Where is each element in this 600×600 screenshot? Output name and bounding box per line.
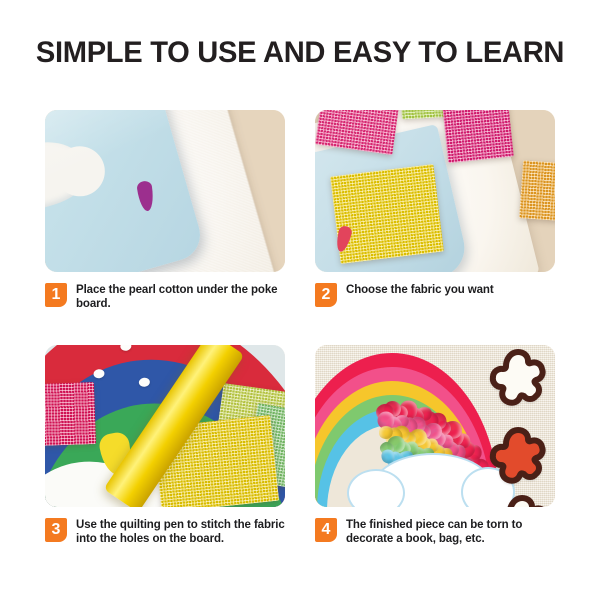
step-4-caption-text: The finished piece can be torn to decora… [346, 518, 555, 546]
magenta-fabric-square [45, 382, 96, 446]
step-1-caption-text: Place the pearl cotton under the poke bo… [76, 283, 285, 311]
page-title: SIMPLE TO USE AND EASY TO LEARN [9, 36, 591, 70]
yellow-fabric-square [330, 164, 444, 264]
flower-partial-icon [491, 495, 553, 507]
step-1-caption: 1 Place the pearl cotton under the poke … [45, 283, 285, 311]
step-3-caption: 3 Use the quilting pen to stitch the fab… [45, 518, 285, 546]
purple-raindrop [136, 180, 155, 212]
step-2-caption-text: Choose the fabric you want [346, 283, 494, 298]
step-number-badge-3: 3 [45, 518, 67, 542]
step-number-badge-1: 1 [45, 283, 67, 307]
step-1-photo [45, 110, 285, 272]
step-3-caption-text: Use the quilting pen to stitch the fabri… [76, 518, 285, 546]
steps-grid: 1 Place the pearl cotton under the poke … [45, 110, 555, 565]
step-card-3: 3 Use the quilting pen to stitch the fab… [45, 345, 285, 546]
step-number-badge-4: 4 [315, 518, 337, 542]
infographic-page: SIMPLE TO USE AND EASY TO LEARN 1 Place … [0, 0, 600, 600]
step-card-1: 1 Place the pearl cotton under the poke … [45, 110, 285, 311]
step-2-caption: 2 Choose the fabric you want [315, 283, 555, 307]
step-4-caption: 4 The finished piece can be torn to deco… [315, 518, 555, 546]
step-number-badge-2: 2 [315, 283, 337, 307]
flower-filled-icon [487, 427, 549, 487]
pink-fabric-square [442, 110, 514, 163]
step-4-photo [315, 345, 555, 507]
step-card-4: 4 The finished piece can be torn to deco… [315, 345, 555, 546]
step-3-photo [45, 345, 285, 507]
step-2-photo [315, 110, 555, 272]
orange-fabric-square [519, 160, 555, 221]
step-card-2: 2 Choose the fabric you want [315, 110, 555, 307]
flower-outline-icon [487, 349, 549, 409]
